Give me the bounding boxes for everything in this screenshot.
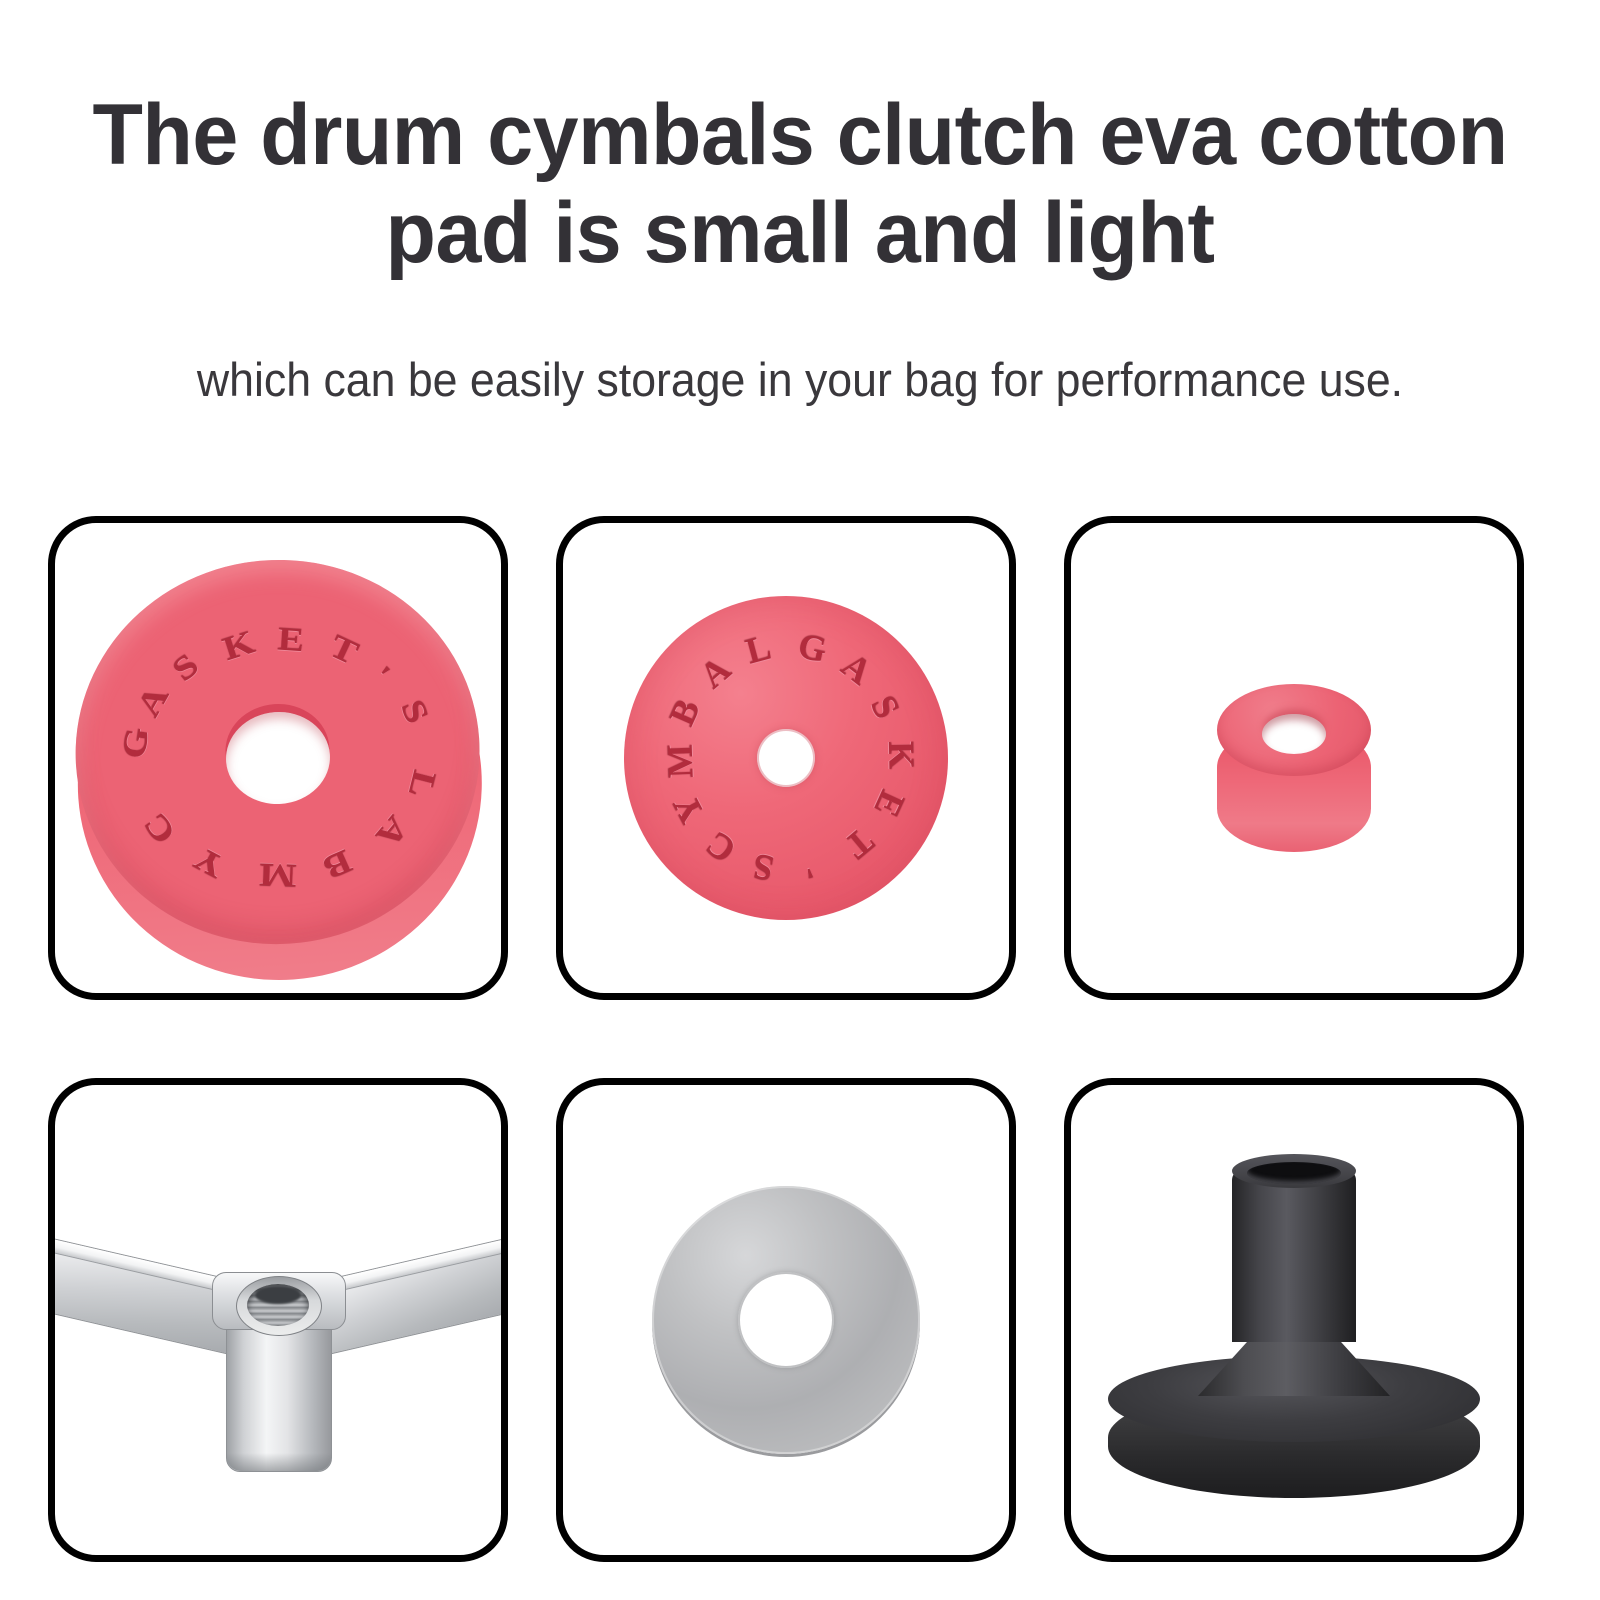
- product-tile-grid: GASKET'S LABMYC GASKET'SCYMBAL: [48, 516, 1554, 1562]
- product-tile-washer: [556, 1078, 1016, 1562]
- wing-nut-wing-right: [320, 1235, 508, 1357]
- product-tile-foam-sleeve: [1064, 516, 1524, 1000]
- wing-nut-wing-left: [48, 1235, 238, 1357]
- emboss-letter: E: [276, 619, 305, 659]
- emboss-letter: G: [114, 725, 156, 761]
- page-headline: The drum cymbals clutch eva cotton pad i…: [32, 86, 1568, 282]
- gasket-flat-image: GASKET'SCYMBAL: [563, 523, 1009, 993]
- sleeve-tube: [1232, 1170, 1356, 1342]
- wing-nut-bore-shadow: [255, 1286, 301, 1304]
- wing-nut-image: [55, 1085, 501, 1555]
- product-tile-gasket-thick: GASKET'S LABMYC: [48, 516, 508, 1000]
- emboss-letter: K: [880, 741, 923, 770]
- emboss-letter: M: [659, 743, 702, 778]
- product-tile-cymbal-sleeve: [1064, 1078, 1524, 1562]
- wing-left-top-edge: [48, 1236, 237, 1295]
- wing-right-top-edge: [321, 1236, 508, 1295]
- gasket-center-hole: [757, 729, 815, 787]
- washer-center-hole: [738, 1272, 834, 1368]
- foam-sleeve-image: [1071, 523, 1517, 993]
- product-tile-gasket-flat: GASKET'SCYMBAL: [556, 516, 1016, 1000]
- sleeve-center-hole: [1262, 714, 1326, 754]
- gasket-thick-image: GASKET'S LABMYC: [55, 523, 501, 993]
- washer-image: [563, 1085, 1009, 1555]
- sleeve-bore: [1247, 1162, 1341, 1184]
- emboss-letter: M: [258, 855, 297, 895]
- page-subheadline: which can be easily storage in your bag …: [40, 352, 1560, 408]
- product-tile-wing-nut: [48, 1078, 508, 1562]
- cymbal-sleeve-image: [1071, 1085, 1517, 1555]
